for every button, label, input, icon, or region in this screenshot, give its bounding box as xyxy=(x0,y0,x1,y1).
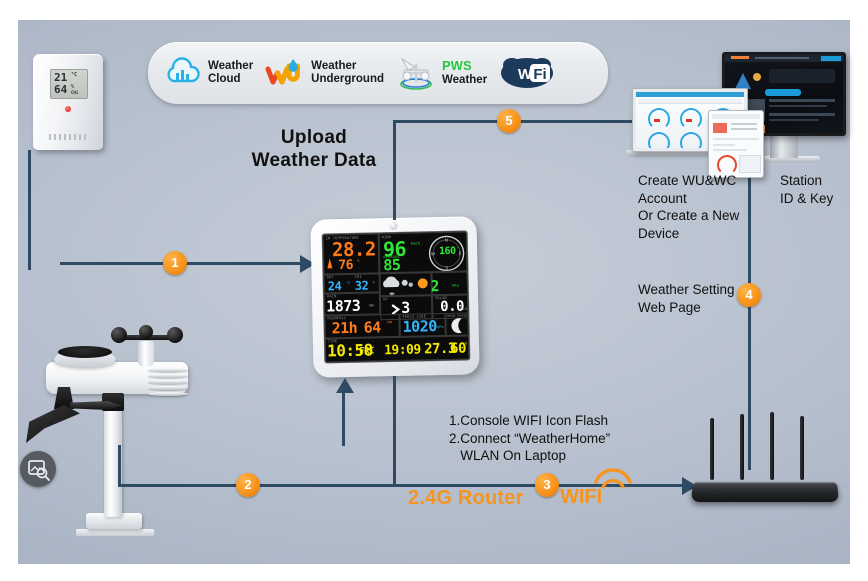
console-knob xyxy=(389,222,397,230)
create-account-note: Create WU&WC Account Or Create a New Dev… xyxy=(638,172,739,242)
wind-gust-unit: km/h xyxy=(411,241,421,245)
router-body xyxy=(691,482,839,502)
rain-total-unit: mm xyxy=(369,303,374,307)
alarm-unit: % xyxy=(465,341,467,345)
pressure-value: 1004.2 xyxy=(431,277,439,295)
step-badge-5: 5 xyxy=(497,109,521,133)
partly-cloudy-icon xyxy=(402,280,413,287)
alarm-value-2: 60 xyxy=(450,341,466,357)
image-zoom-badge[interactable] xyxy=(20,451,56,487)
sensor-led-indicator xyxy=(65,106,71,112)
step-badge-2: 2 xyxy=(236,473,260,497)
wifi-instructions-note: 1.Console WIFI Icon Flash 2.Connect “Wea… xyxy=(449,412,610,465)
svg-text:N: N xyxy=(445,237,448,242)
console-up-line xyxy=(342,390,345,446)
display-indoor-cell: IN TEMPERATURE 28.2 °C 76 % xyxy=(323,233,380,274)
service-label: WeatherCloud xyxy=(208,60,253,86)
cloud-icon xyxy=(383,276,400,287)
display-dew-cell: FEELS LIKE 1020 hPa xyxy=(399,313,445,337)
step3-line-vertical xyxy=(393,376,396,484)
step5-line-vertical xyxy=(393,120,396,220)
dashboard-gauge xyxy=(680,132,702,148)
rainfall-unit: mm xyxy=(387,320,392,324)
cloud-chart-icon xyxy=(162,53,202,93)
outdoor-temp: 24 xyxy=(328,279,342,293)
display-forecast-cell xyxy=(380,272,432,296)
sensor-lcd: 21 °C 64 % CH1 xyxy=(50,69,88,99)
thermometer-icon xyxy=(326,257,333,270)
router-antenna xyxy=(770,412,774,480)
display-outdoor-cell: OUT CH1 24 °C 32 % xyxy=(324,273,380,293)
display-rain-total-cell: RAIN 1873 mm xyxy=(324,292,380,315)
step-badge-3: 3 xyxy=(535,473,559,497)
rainfall-value-1: 21h xyxy=(331,319,357,338)
weather-setting-note: Weather Setting Web Page xyxy=(638,281,735,316)
indoor-humidity-unit: % xyxy=(357,259,359,263)
service-weather-underground[interactable]: WeatherUnderground xyxy=(265,53,384,93)
step4-line xyxy=(748,160,751,470)
anemometer-cup xyxy=(167,327,183,343)
cloud-services-bar: WeatherCloud WeatherUnderground xyxy=(148,42,608,104)
wifi-waves-icon xyxy=(592,466,634,492)
wifi-badge-icon: Wi Fi xyxy=(499,53,555,93)
wind-direction-unit: ° xyxy=(457,247,459,251)
indoor-humidity: 76 xyxy=(338,258,353,273)
indoor-temp-unit: °C xyxy=(369,241,374,245)
sensor-lcd-temp-unit: °C xyxy=(71,72,77,78)
display-wind-cell: WIND 96 km/h AVERAGE 85 N E S W 160 ° xyxy=(379,231,468,273)
uv-label: UV xyxy=(383,297,388,301)
rain-funnel-opening xyxy=(58,346,112,358)
solar-unit: kLux xyxy=(460,306,468,310)
step2-line-vertical xyxy=(118,445,121,487)
service-wifi-badge[interactable]: Wi Fi xyxy=(499,53,561,93)
dew-value: 1020 xyxy=(402,317,436,336)
router-label: 2.4G Router xyxy=(408,487,524,510)
station-id-key-note: Station ID & Key xyxy=(780,172,833,207)
display-pressure-cell-inner: PRESSURE 1004.2 hPa xyxy=(431,271,467,295)
wind-vane-body xyxy=(26,405,80,443)
array-base-plate xyxy=(76,529,154,536)
weather-station-console[interactable]: IN TEMPERATURE 28.2 °C 76 % OUT CH1 24 °… xyxy=(310,216,479,377)
display-moon-cell: MOON PHASE xyxy=(445,312,468,335)
console-display: IN TEMPERATURE 28.2 °C 76 % OUT CH1 24 °… xyxy=(322,230,471,363)
outdoor-sensor-array xyxy=(18,305,213,560)
tablet-report[interactable] xyxy=(708,110,764,178)
upload-weather-data-label: Upload Weather Data xyxy=(226,126,402,172)
wind-direction: 160 xyxy=(439,246,456,257)
outdoor-humidity: 32 xyxy=(355,279,369,293)
service-label: WeatherUnderground xyxy=(311,60,384,86)
service-label: PWS Weather xyxy=(442,59,487,87)
step-badge-4: 4 xyxy=(737,283,761,307)
console-up-arrowhead xyxy=(336,378,354,393)
dew-unit: hPa xyxy=(437,325,444,329)
router-antenna xyxy=(740,414,744,480)
anemometer-cup xyxy=(139,325,153,339)
radiation-shield xyxy=(148,368,188,400)
wifi-router[interactable] xyxy=(692,470,838,502)
service-pws-weather[interactable]: PWS Weather xyxy=(396,53,487,93)
service-weather-cloud[interactable]: WeatherCloud xyxy=(162,53,253,93)
rainfall-value-2: 64 xyxy=(363,318,380,336)
diagram-canvas: WeatherCloud WeatherUnderground xyxy=(0,0,868,581)
dashboard-gauge xyxy=(648,132,670,148)
sensor-vents xyxy=(49,134,87,140)
anemometer-post xyxy=(138,341,154,367)
router-antenna xyxy=(710,418,714,480)
svg-text:E: E xyxy=(459,251,462,256)
monitor-stand xyxy=(770,136,798,158)
sensor-cable xyxy=(28,150,31,270)
display-clock-cell: TIME 10:58 FRI 19:09 27.3 60 % xyxy=(325,335,469,362)
svg-text:W: W xyxy=(431,251,435,256)
pws-station-icon xyxy=(396,53,436,93)
sun-icon xyxy=(418,278,428,288)
wu-logo-icon xyxy=(265,53,305,93)
pressure-unit: hPa xyxy=(452,284,459,288)
svg-text:S: S xyxy=(446,265,449,270)
clock-weekday: FRI xyxy=(359,346,374,356)
computers-group xyxy=(632,52,848,168)
sensor-lcd-channel: CH1 xyxy=(71,90,78,95)
router-antenna xyxy=(800,416,804,480)
svg-text:Fi: Fi xyxy=(534,66,547,83)
rain-total-value: 1873 xyxy=(326,297,360,316)
outdoor-temp-unit: °C xyxy=(346,281,351,285)
crescent-moon-icon xyxy=(450,318,465,334)
display-rainfall-cell: RAINFALL 21h 64 mm xyxy=(324,314,399,339)
outdoor-humidity-unit: % xyxy=(373,280,375,284)
sensor-lcd-humidity: 64 xyxy=(54,83,67,96)
anemometer-cup xyxy=(111,327,127,343)
step-badge-1: 1 xyxy=(163,251,187,275)
clock-date: 19:09 xyxy=(384,342,421,358)
wind-average: 85 xyxy=(383,256,400,273)
